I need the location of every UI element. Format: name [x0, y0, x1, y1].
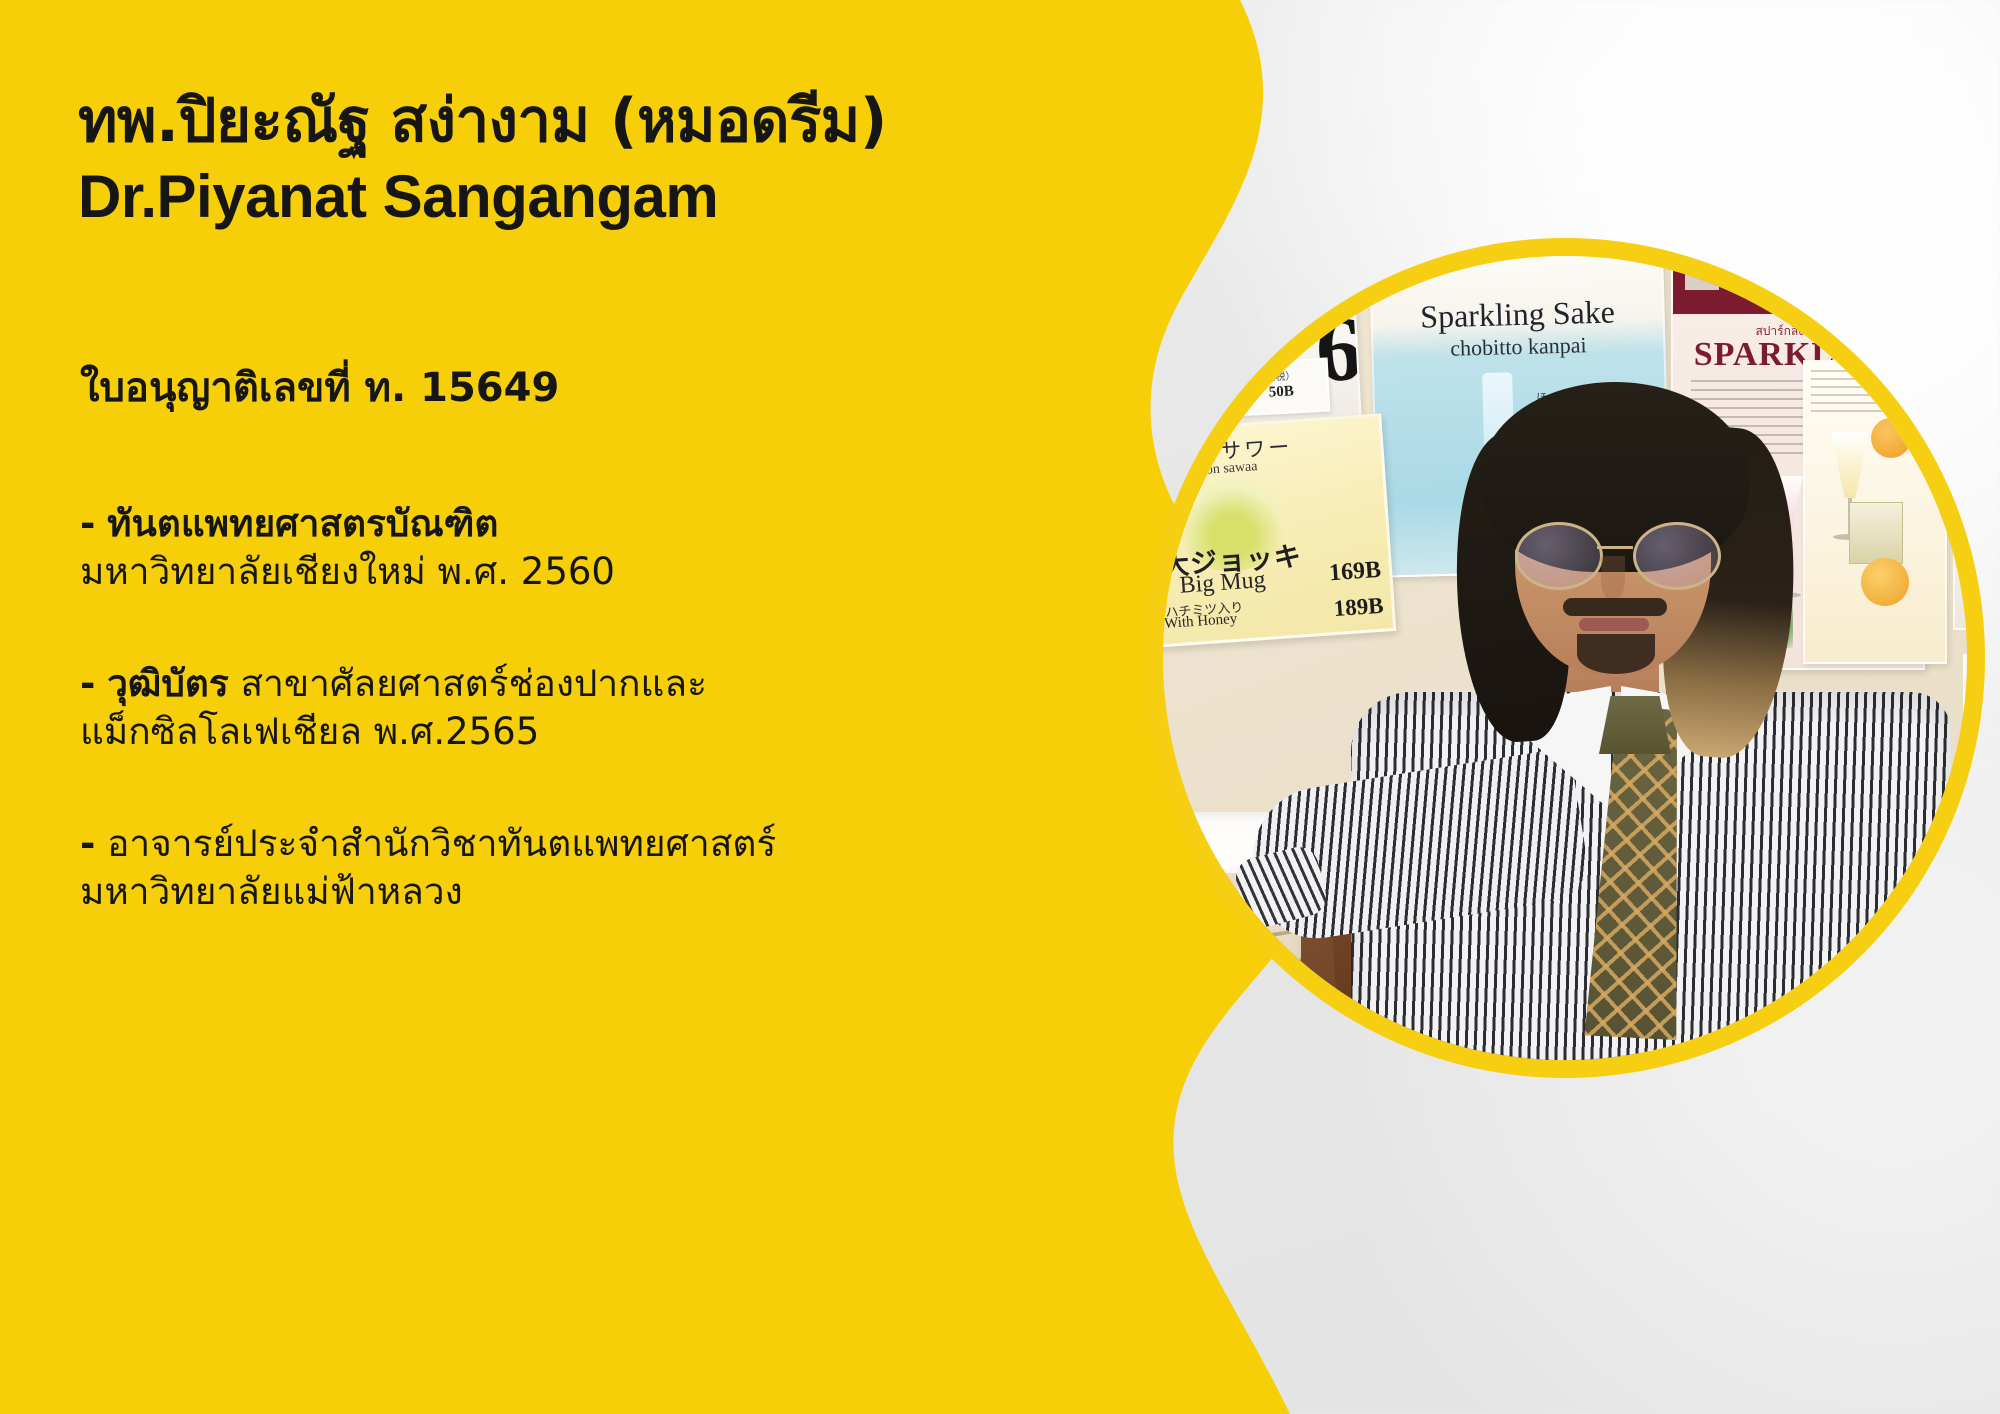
lens-left	[1515, 522, 1603, 590]
credential-item: - ทันตแพทยศาสตรบัณฑิต มหาวิทยาลัยเชียงให…	[80, 500, 1090, 596]
credential-bullet: -	[80, 502, 95, 545]
lens-right	[1633, 522, 1721, 590]
person-figure	[1163, 256, 1967, 1060]
necktie-knot	[1599, 696, 1671, 754]
credential-title-rest: อาจารย์ประจำสำนักวิชาทันตแพทยศาสตร์	[107, 822, 776, 865]
portrait-photo: 6 （税） 50B Sparkling Sake chobitto kanpai…	[1163, 256, 1967, 1060]
credential-item: - อาจารย์ประจำสำนักวิชาทันตแพทยศาสตร์ มห…	[80, 820, 1090, 916]
credential-detail: มหาวิทยาลัยเชียงใหม่ พ.ศ. 2560	[80, 548, 1090, 596]
credential-title-line: - ทันตแพทยศาสตรบัณฑิต	[80, 500, 1090, 548]
license-number: ใบอนุญาติเลขที่ ท. 15649	[80, 355, 559, 419]
credential-title-line: - วุฒิบัตร สาขาศัลยศาสตร์ช่องปากและ	[80, 660, 1090, 708]
nose	[1601, 556, 1625, 602]
credential-bullet: -	[80, 662, 95, 705]
text-content: ทพ.ปิยะณัฐ สง่างาม (หมอดรีม) Dr.Piyanat …	[78, 0, 1108, 1414]
credential-title: วุฒิบัตร	[107, 662, 229, 705]
beard	[1577, 634, 1655, 674]
credentials-list: - ทันตแพทยศาสตรบัณฑิต มหาวิทยาลัยเชียงให…	[80, 500, 1090, 981]
credential-title: ทันตแพทยศาสตรบัณฑิต	[107, 502, 498, 545]
doctor-name-english: Dr.Piyanat Sangangam	[78, 163, 718, 230]
moustache	[1563, 598, 1667, 616]
doctor-name-thai: ทพ.ปิยะณัฐ สง่างาม (หมอดรีม)	[78, 88, 887, 155]
profile-card: 6 （税） 50B Sparkling Sake chobitto kanpai…	[0, 0, 2000, 1414]
credential-detail: แม็กซิลโลเฟเชียล พ.ศ.2565	[80, 708, 1090, 756]
credential-title-rest: สาขาศัลยศาสตร์ช่องปากและ	[229, 662, 707, 705]
credential-bullet: -	[80, 822, 95, 865]
glasses-bridge	[1597, 546, 1633, 549]
credential-title-line: - อาจารย์ประจำสำนักวิชาทันตแพทยศาสตร์	[80, 820, 1090, 868]
credential-item: - วุฒิบัตร สาขาศัลยศาสตร์ช่องปากและ แม็ก…	[80, 660, 1090, 756]
mouth	[1579, 618, 1649, 631]
credential-detail: มหาวิทยาลัยแม่ฟ้าหลวง	[80, 868, 1090, 916]
